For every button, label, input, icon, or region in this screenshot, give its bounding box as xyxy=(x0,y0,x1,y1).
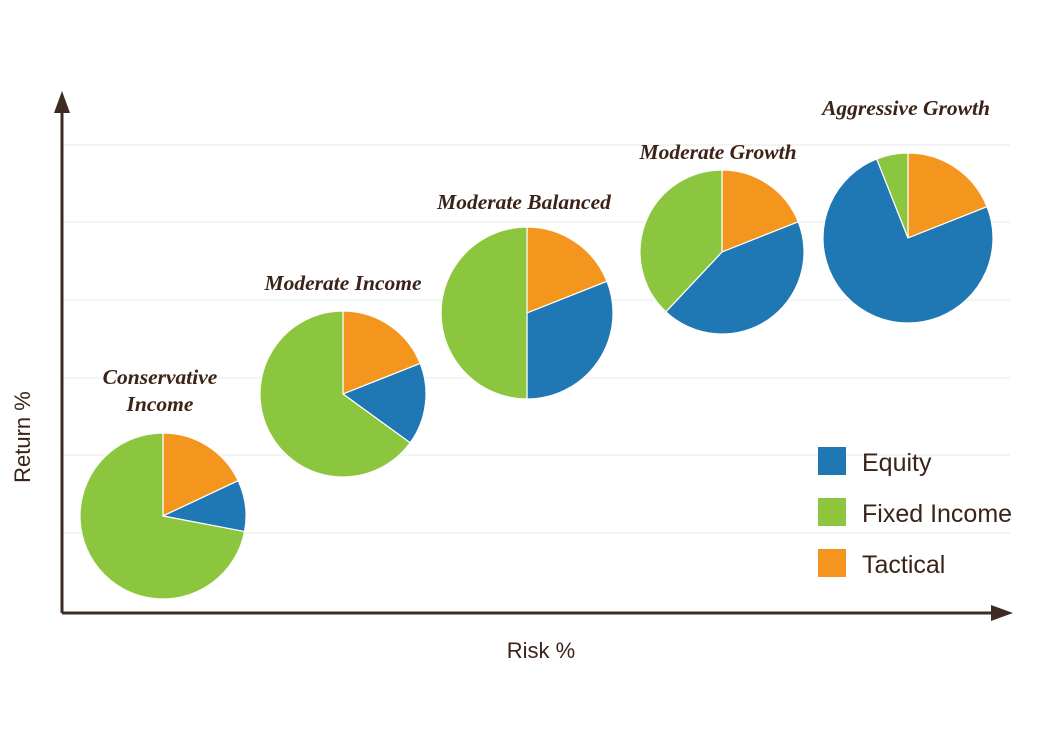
legend-swatch-icon xyxy=(818,549,846,577)
legend-swatch-icon xyxy=(818,447,846,475)
pie-label-4: Moderate Growth xyxy=(638,140,796,164)
pie-label-line: Conservative xyxy=(103,365,218,389)
risk-return-pie-chart: Tactical: 18%Equity: 10%Fixed Income: 72… xyxy=(0,0,1041,735)
pie-label-line: Moderate Growth xyxy=(638,140,796,164)
legend-label: Equity xyxy=(862,449,932,477)
pie-5: Tactical: 19%Equity: 75%Fixed Income: 6% xyxy=(823,153,993,323)
x-axis-title: Risk % xyxy=(507,638,575,663)
pie-label-5: Aggressive Growth xyxy=(820,96,990,120)
pie-label-line: Aggressive Growth xyxy=(820,96,990,120)
pie-label-line: Moderate Income xyxy=(263,271,422,295)
pie-3: Tactical: 19%Equity: 31%Fixed Income: 50… xyxy=(441,227,613,399)
pie-1: Tactical: 18%Equity: 10%Fixed Income: 72… xyxy=(80,433,246,599)
legend-item-equity[interactable]: Equity xyxy=(818,447,932,477)
pie-label-2: Moderate Income xyxy=(263,271,422,295)
legend-label: Fixed Income xyxy=(862,500,1012,528)
pie-4: Tactical: 19%Equity: 43%Fixed Income: 38… xyxy=(640,170,804,334)
y-axis-title: Return % xyxy=(10,391,35,483)
pie-label-line: Moderate Balanced xyxy=(436,190,612,214)
pie-label-3: Moderate Balanced xyxy=(436,190,612,214)
legend-item-tactical[interactable]: Tactical xyxy=(818,549,945,579)
pie-2: Tactical: 19%Equity: 16%Fixed Income: 65… xyxy=(260,311,426,477)
chart-canvas: Tactical: 18%Equity: 10%Fixed Income: 72… xyxy=(0,0,1041,735)
legend-swatch-icon xyxy=(818,498,846,526)
legend-label: Tactical xyxy=(862,551,945,579)
pie-label-line: Income xyxy=(126,392,194,416)
